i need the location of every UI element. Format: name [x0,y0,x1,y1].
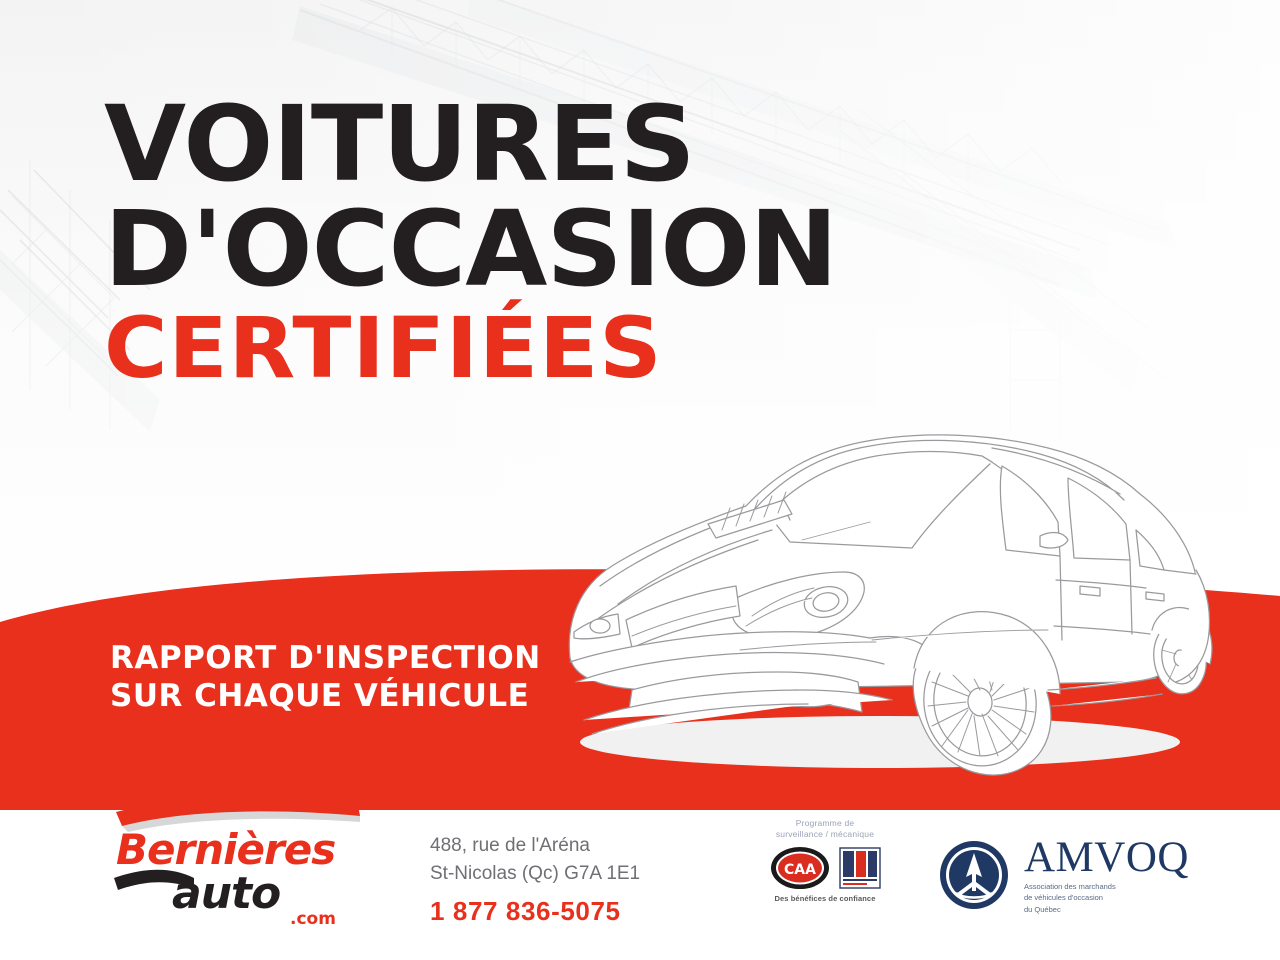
banner-line-1: RAPPORT D'INSPECTION [110,640,541,678]
headline-line-3-certified: CERTIFIÉES [104,309,844,387]
advertisement-poster: VOITURES D'OCCASION CERTIFIÉES RAPPORT D… [0,0,1280,960]
headline-line-1: VOITURES [104,96,837,193]
banner-text-block: RAPPORT D'INSPECTION SUR CHAQUE VÉHICULE [110,640,541,716]
banner-line-2: SUR CHAQUE VÉHICULE [110,678,541,716]
car-line-art-illustration [540,390,1260,790]
footer-bar [0,760,1280,960]
headline-block: VOITURES D'OCCASION CERTIFIÉES [104,96,823,388]
headline-line-2: D'OCCASION [104,201,837,298]
